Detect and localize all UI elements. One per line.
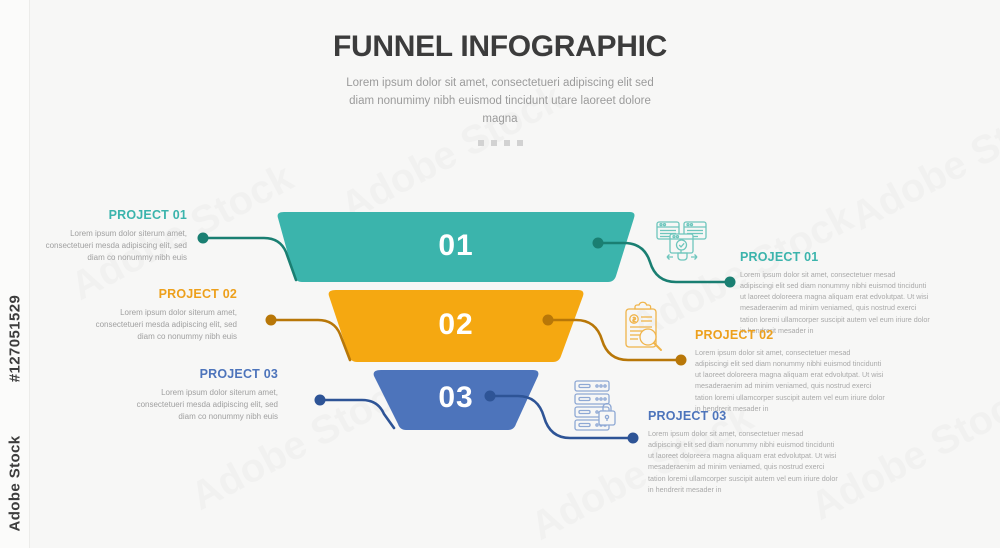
right-block-project-03[interactable]: PROJECT 03 Lorem ipsum dolor sit amet, c… — [648, 409, 838, 495]
left-block-project-02[interactable]: PROJECT 02 Lorem ipsum dolor siterum ame… — [77, 287, 237, 343]
right-heading-2: PROJECT 02 — [695, 328, 885, 342]
right-heading-1: PROJECT 01 — [740, 250, 930, 264]
right-body-3: Lorem ipsum dolor sit amet, consectetuer… — [648, 428, 838, 495]
connector-dot-left-2 — [266, 315, 277, 326]
funnel-tier-2[interactable] — [329, 290, 584, 362]
left-block-project-01[interactable]: PROJECT 01 Lorem ipsum dolor siterum ame… — [27, 208, 187, 264]
left-block-project-03[interactable]: PROJECT 03 Lorem ipsum dolor siterum ame… — [118, 367, 278, 423]
connector-dot-right-2a — [543, 315, 554, 326]
clipboard-dollar-magnifier-icon — [626, 302, 661, 350]
left-body-2: Lorem ipsum dolor siterum amet, consecte… — [77, 307, 237, 343]
right-block-project-01[interactable]: PROJECT 01 Lorem ipsum dolor sit amet, c… — [740, 250, 930, 336]
funnel-tier-1[interactable] — [278, 212, 635, 282]
right-block-project-02[interactable]: PROJECT 02 Lorem ipsum dolor sit amet, c… — [695, 328, 885, 414]
connector-dot-left-1 — [198, 233, 209, 244]
server-rack-lock-icon — [575, 381, 615, 430]
connector-dot-right-3a — [485, 391, 496, 402]
connector-left-3 — [320, 400, 394, 428]
connector-dot-right-3b — [628, 433, 639, 444]
browser-windows-click-icon — [657, 222, 706, 260]
infographic-stage: 01 02 03 PROJECT 01 Lorem ipsum dolor si… — [0, 0, 1000, 548]
connector-dot-right-1a — [593, 238, 604, 249]
connector-dot-right-2b — [676, 355, 687, 366]
connector-dot-right-1b — [725, 277, 736, 288]
left-heading-3: PROJECT 03 — [118, 367, 278, 381]
right-body-2: Lorem ipsum dolor sit amet, consectetuer… — [695, 347, 885, 414]
right-heading-3: PROJECT 03 — [648, 409, 838, 423]
connector-left-1 — [203, 238, 296, 280]
left-heading-1: PROJECT 01 — [27, 208, 187, 222]
left-body-3: Lorem ipsum dolor siterum amet, consecte… — [118, 387, 278, 423]
left-heading-2: PROJECT 02 — [77, 287, 237, 301]
connector-dot-left-3 — [315, 395, 326, 406]
funnel-tier-3[interactable] — [374, 370, 539, 430]
left-body-1: Lorem ipsum dolor siterum amet, consecte… — [27, 228, 187, 264]
right-body-1: Lorem ipsum dolor sit amet, consectetuer… — [740, 269, 930, 336]
connector-left-2 — [271, 320, 350, 360]
